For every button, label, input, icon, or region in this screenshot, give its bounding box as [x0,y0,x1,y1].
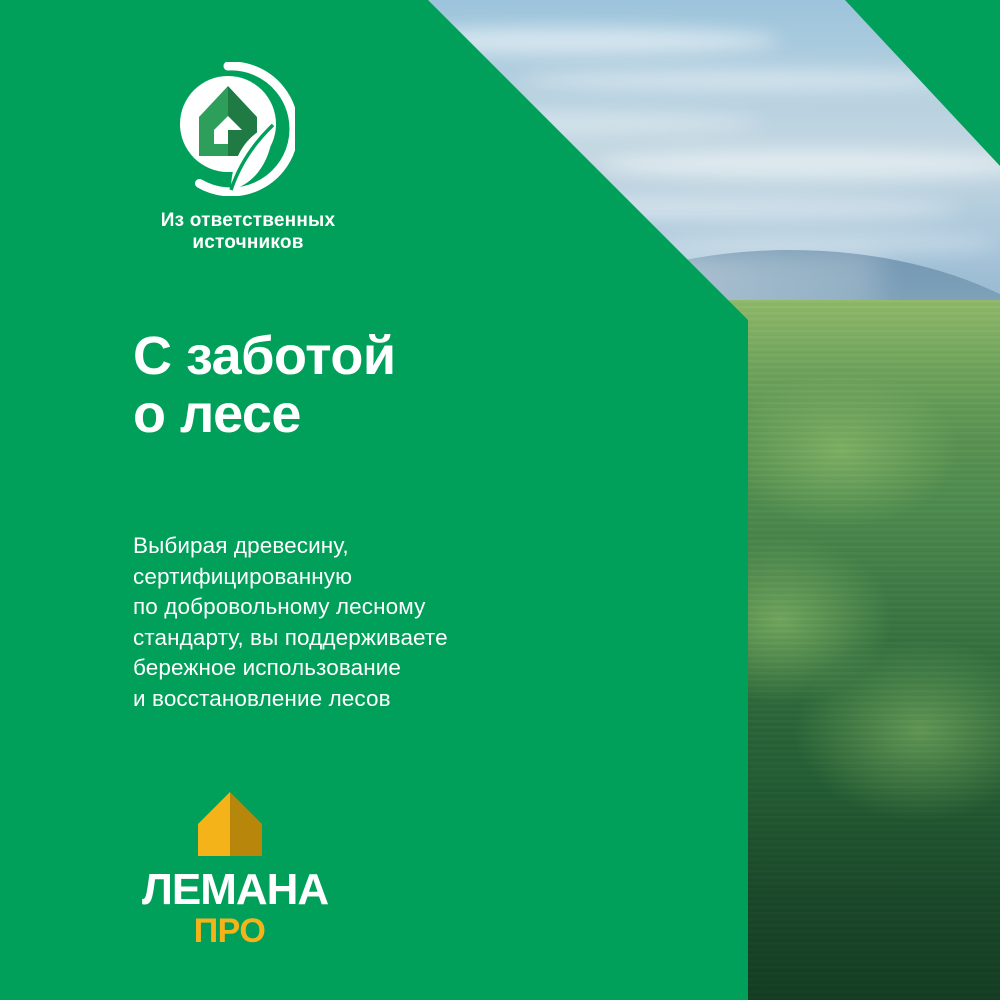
poster: Из ответственных источников С заботой о … [0,0,1000,1000]
content-area: Из ответственных источников С заботой о … [0,0,748,1000]
brand-lockup: ЛЕМАНА ПРО [142,790,317,948]
lemana-house-icon [194,790,266,858]
brand-name: ЛЕМАНА [142,868,317,912]
headline: С заботой о лесе [133,327,396,444]
brand-subtitle: ПРО [142,914,317,948]
certification-badge: Из ответственных источников [133,62,363,254]
body-copy: Выбирая древесину, сертифицированную по … [133,531,448,715]
badge-caption: Из ответственных источников [133,210,363,254]
responsible-sources-mark-icon [161,62,295,196]
